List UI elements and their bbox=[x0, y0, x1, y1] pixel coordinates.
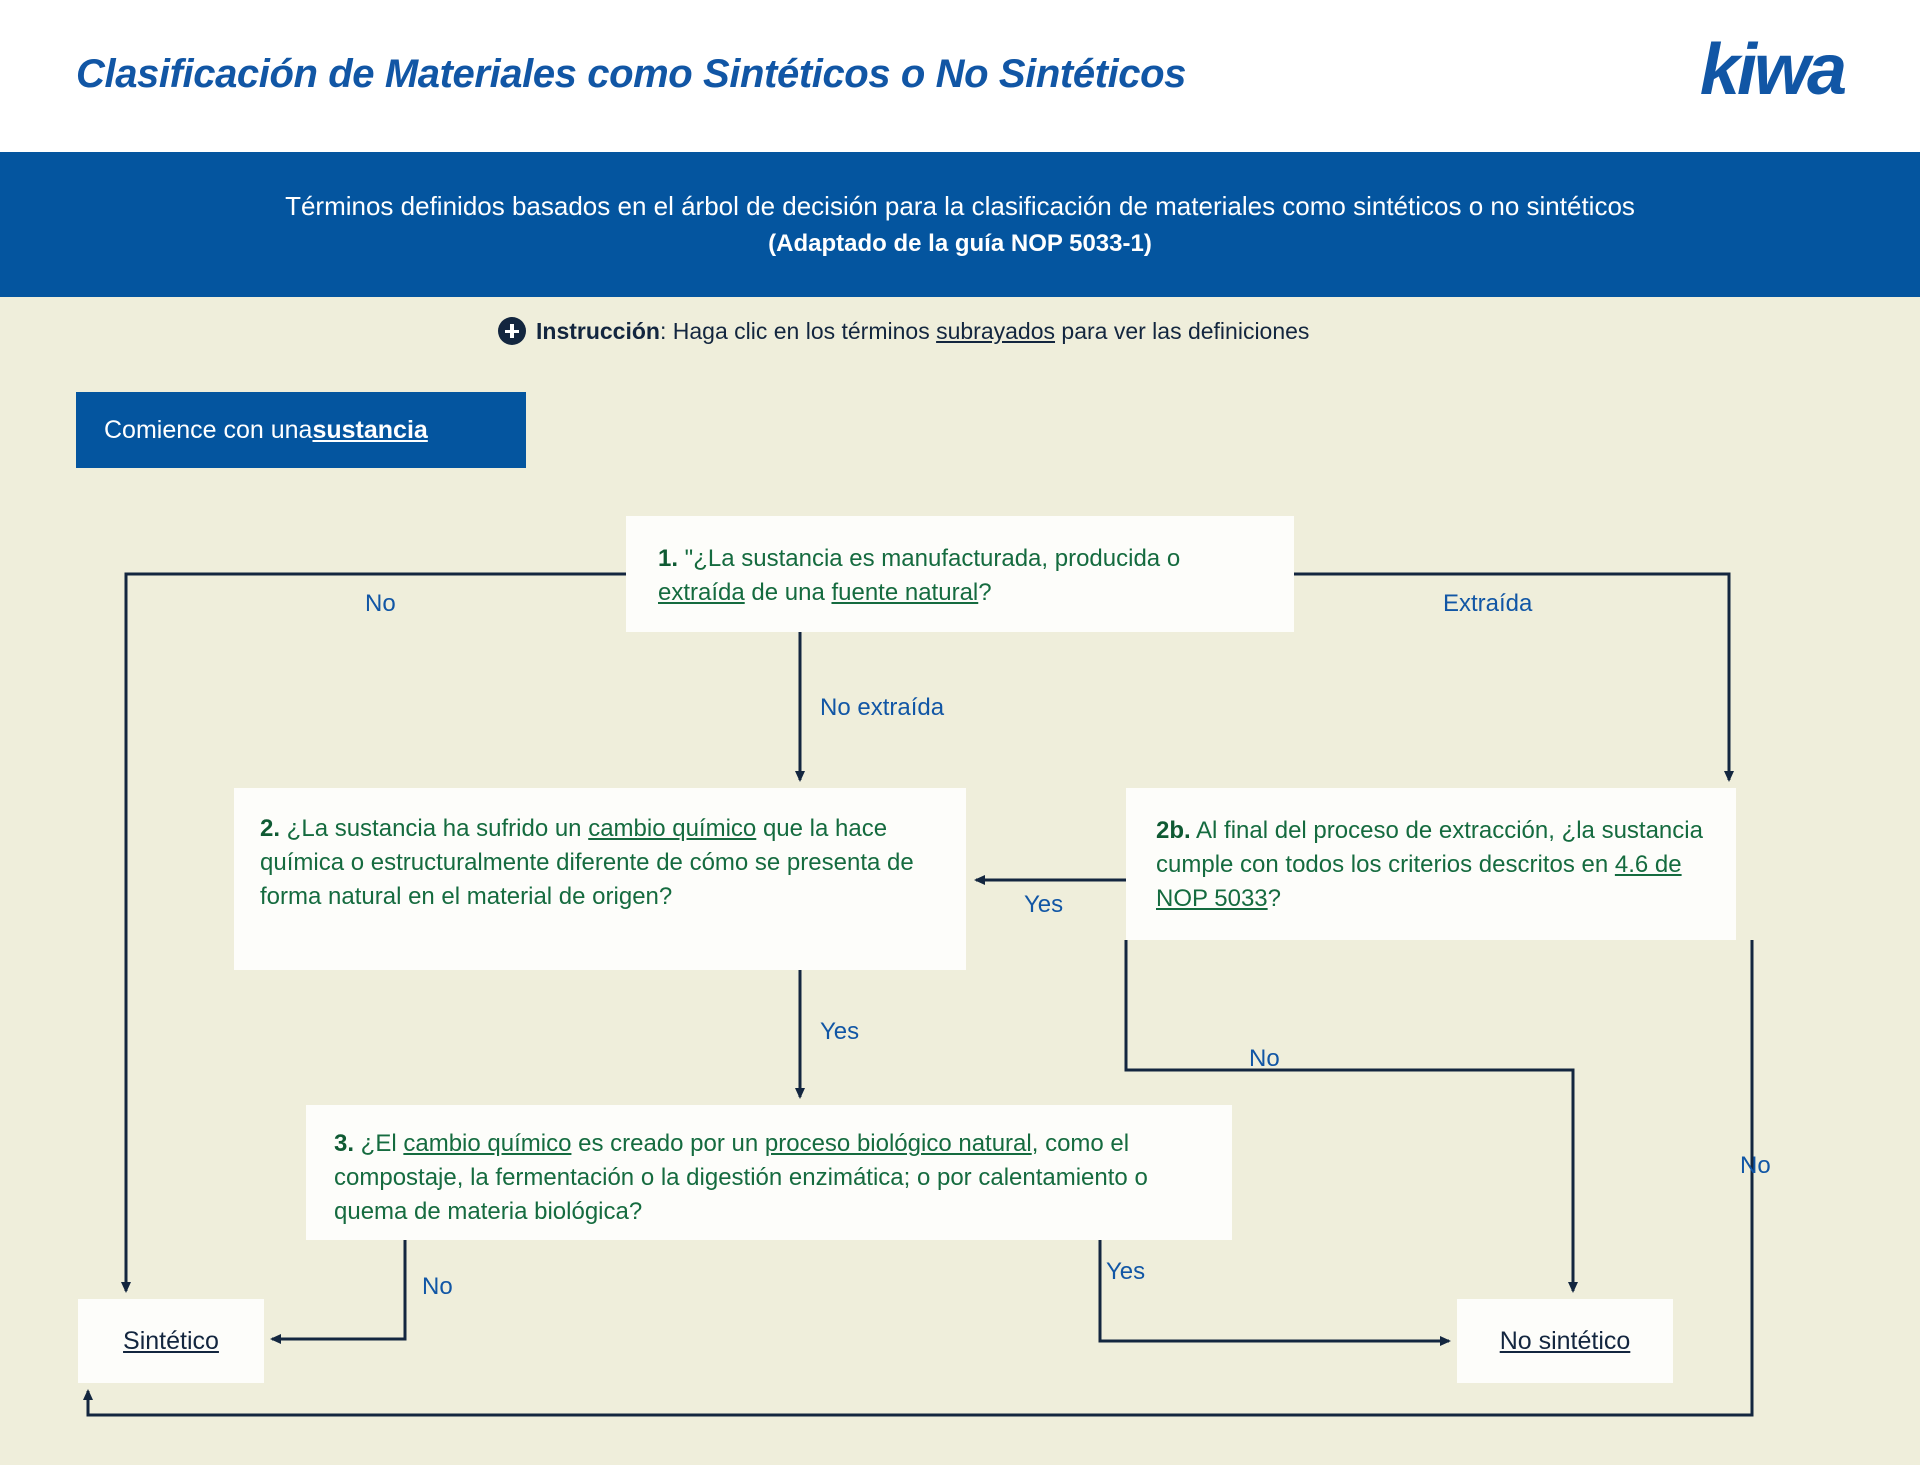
q1-number: 1. bbox=[658, 545, 678, 572]
instruction-link-subrayados[interactable]: subrayados bbox=[936, 318, 1055, 344]
q1-seg3: ? bbox=[978, 579, 991, 606]
page-title: Clasificación de Materiales como Sintéti… bbox=[76, 52, 1186, 97]
q2-link-cambio-quimico[interactable]: cambio químico bbox=[588, 815, 756, 842]
result-sintetico-label[interactable]: Sintético bbox=[123, 1327, 219, 1356]
q1-link-fuente-natural[interactable]: fuente natural bbox=[831, 579, 978, 606]
q2-number: 2. bbox=[260, 815, 280, 842]
q2-seg1: ¿La sustancia ha sufrido un bbox=[280, 815, 588, 842]
instruction-text-after: para ver las definiciones bbox=[1055, 318, 1309, 344]
edge-label-q2-yes: Yes bbox=[820, 1018, 859, 1046]
subtitle-band: Términos definidos basados en el árbol d… bbox=[0, 152, 1920, 297]
edge-label-q1-no: No bbox=[365, 590, 396, 618]
edge-label-q1-extraida: Extraída bbox=[1443, 590, 1532, 618]
q3-link-cambio-quimico[interactable]: cambio químico bbox=[403, 1130, 571, 1157]
q3-seg2: es creado por un bbox=[571, 1130, 764, 1157]
result-no-sintetico-label[interactable]: No sintético bbox=[1500, 1327, 1631, 1356]
q1-seg2: de una bbox=[745, 579, 832, 606]
q1-link-extraida[interactable]: extraída bbox=[658, 579, 745, 606]
edge-q3-yes bbox=[1100, 1240, 1449, 1341]
start-text: Comience con una bbox=[104, 416, 312, 445]
instruction-row: Instrucción: Haga clic en los términos s… bbox=[498, 317, 1309, 345]
q2b-number: 2b. bbox=[1156, 817, 1191, 844]
edge-label-q1-no-extraida: No extraída bbox=[820, 694, 944, 722]
instruction-text: Instrucción: Haga clic en los términos s… bbox=[536, 318, 1309, 345]
start-box[interactable]: Comience con una sustancia bbox=[76, 392, 526, 468]
result-box-no-sintetico[interactable]: No sintético bbox=[1457, 1299, 1673, 1383]
subtitle-line-2: (Adaptado de la guía NOP 5033-1) bbox=[768, 228, 1152, 259]
subtitle-line-1: Términos definidos basados en el árbol d… bbox=[285, 190, 1635, 224]
instruction-text-before: : Haga clic en los términos bbox=[660, 318, 936, 344]
q1-seg1: "¿La sustancia es manufacturada, produci… bbox=[678, 545, 1180, 572]
question-box-1: 1. "¿La sustancia es manufacturada, prod… bbox=[626, 516, 1294, 632]
edge-label-far-right-no: No bbox=[1740, 1152, 1771, 1180]
edge-label-q3-no: No bbox=[422, 1273, 453, 1301]
question-box-3: 3. ¿El cambio químico es creado por un p… bbox=[306, 1105, 1232, 1240]
q3-seg1: ¿El bbox=[354, 1130, 403, 1157]
q3-link-proceso-biologico[interactable]: proceso biológico natural bbox=[765, 1130, 1032, 1157]
question-box-2b: 2b. Al final del proceso de extracción, … bbox=[1126, 788, 1736, 940]
edge-label-q2b-yes: Yes bbox=[1024, 891, 1063, 919]
instruction-label: Instrucción bbox=[536, 318, 660, 344]
plus-circle-icon bbox=[498, 317, 526, 345]
result-box-sintetico[interactable]: Sintético bbox=[78, 1299, 264, 1383]
edge-label-q3-yes: Yes bbox=[1106, 1258, 1145, 1286]
question-box-2: 2. ¿La sustancia ha sufrido un cambio qu… bbox=[234, 788, 966, 970]
start-link-sustancia[interactable]: sustancia bbox=[312, 416, 427, 445]
header-bar: Clasificación de Materiales como Sintéti… bbox=[0, 0, 1920, 152]
q2b-seg2: ? bbox=[1268, 885, 1281, 912]
edge-q3-no bbox=[272, 1240, 405, 1339]
edge-label-q2b-no: No bbox=[1249, 1045, 1280, 1073]
kiwa-logo: kiwa bbox=[1700, 34, 1844, 106]
q3-number: 3. bbox=[334, 1130, 354, 1157]
